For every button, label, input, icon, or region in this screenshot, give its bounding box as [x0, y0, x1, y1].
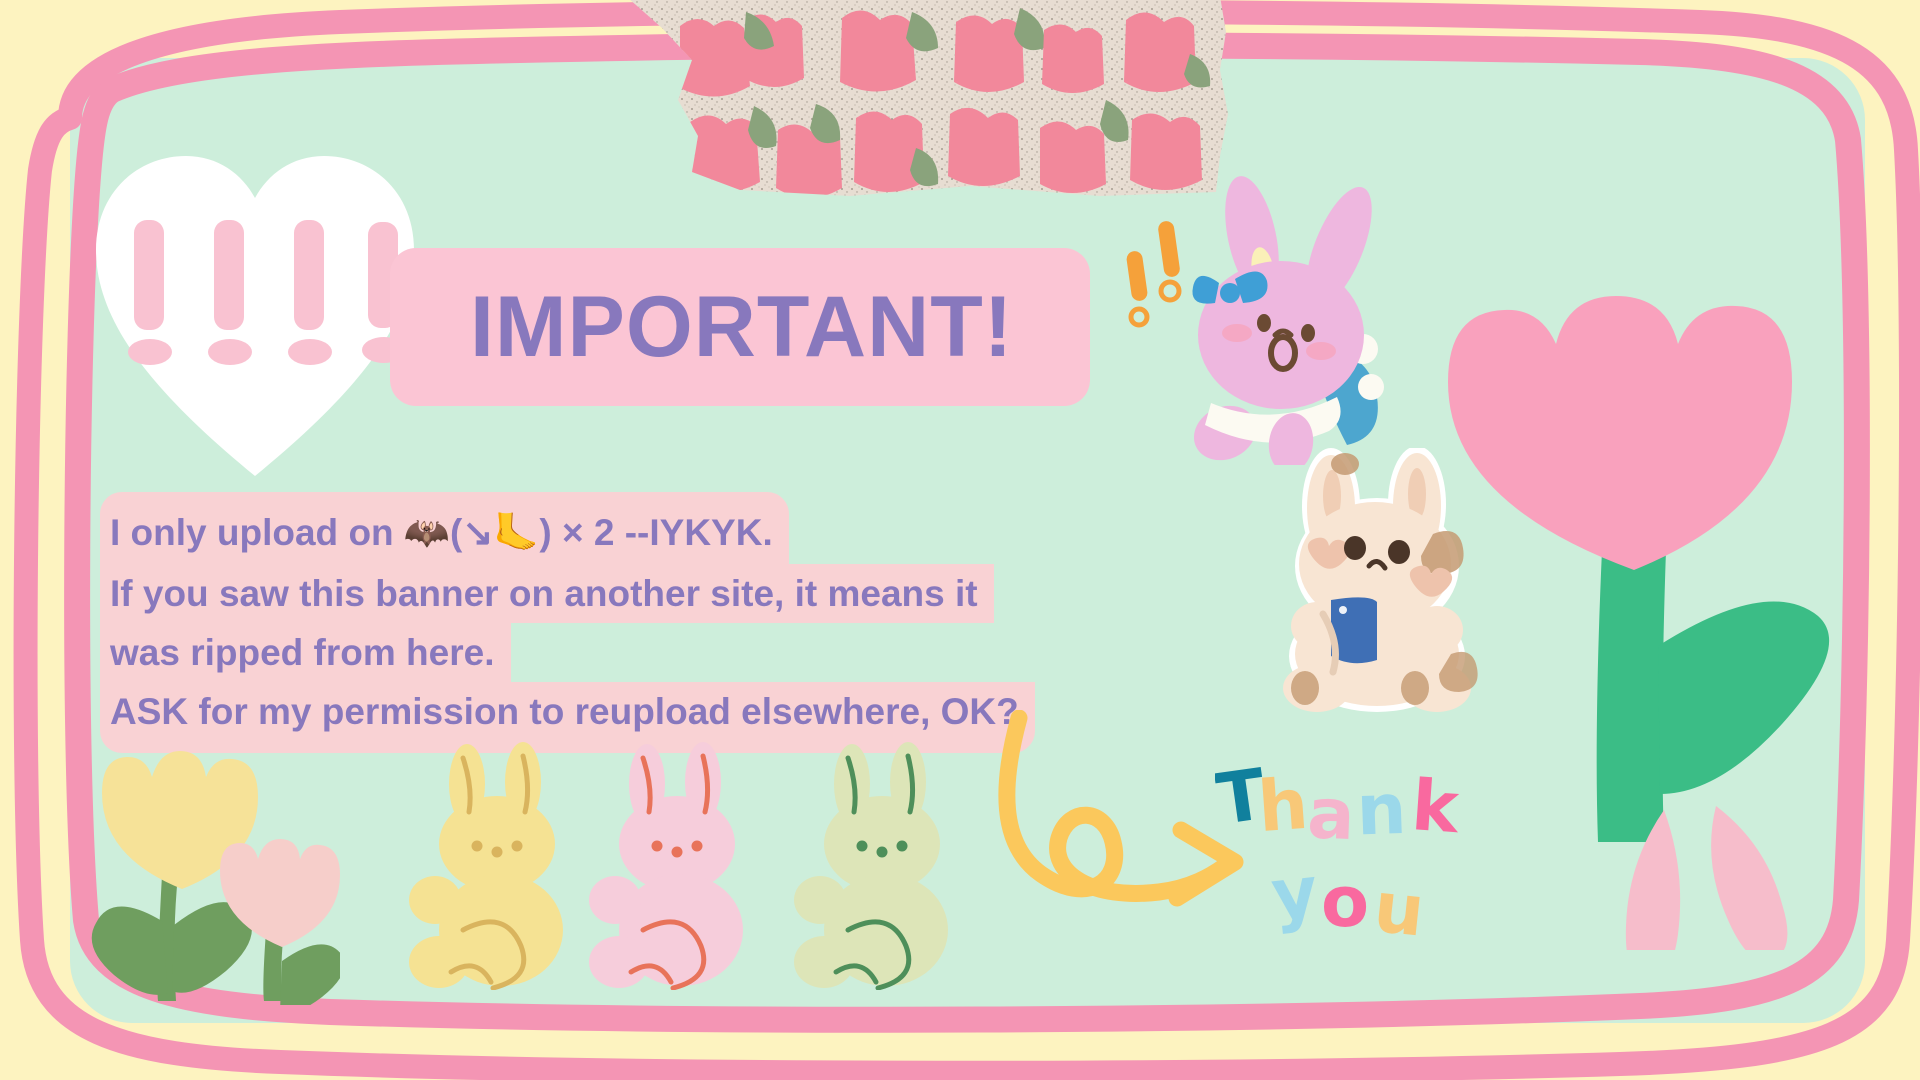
flying-pink-bunny-sticker [1115, 175, 1415, 465]
notice-line-2: If you saw this banner on another site, … [100, 564, 994, 623]
gummy-bunny-pink-sticker [585, 740, 785, 990]
notice-line-1: I only upload on 🦇(↘🦶) × 2 --IYKYK. [100, 492, 789, 564]
thank-you-lettering: T h a n k y o u [1215, 760, 1535, 960]
thankyou-letter-h: h [1255, 763, 1310, 848]
thankyou-letter-o: o [1321, 861, 1369, 943]
gummy-bunny-green-sticker [790, 740, 990, 990]
thankyou-letter-n: n [1355, 768, 1408, 852]
small-tulips-cluster [70, 735, 340, 1005]
page-title: IMPORTANT! [470, 268, 1110, 388]
thankyou-letter-y: y [1268, 850, 1322, 936]
thankyou-letter-u: u [1370, 866, 1428, 953]
thankyou-letter-a: a [1306, 772, 1356, 856]
banner-canvas: IMPORTANT! I only upload on 🦇(↘🦶) × 2 --… [0, 0, 1920, 1080]
thankyou-letter-k: k [1409, 764, 1463, 849]
gummy-bunny-yellow-sticker [405, 740, 605, 990]
white-heart-with-exclamations [90, 140, 420, 480]
notice-line-3: was ripped from here. [100, 623, 511, 682]
